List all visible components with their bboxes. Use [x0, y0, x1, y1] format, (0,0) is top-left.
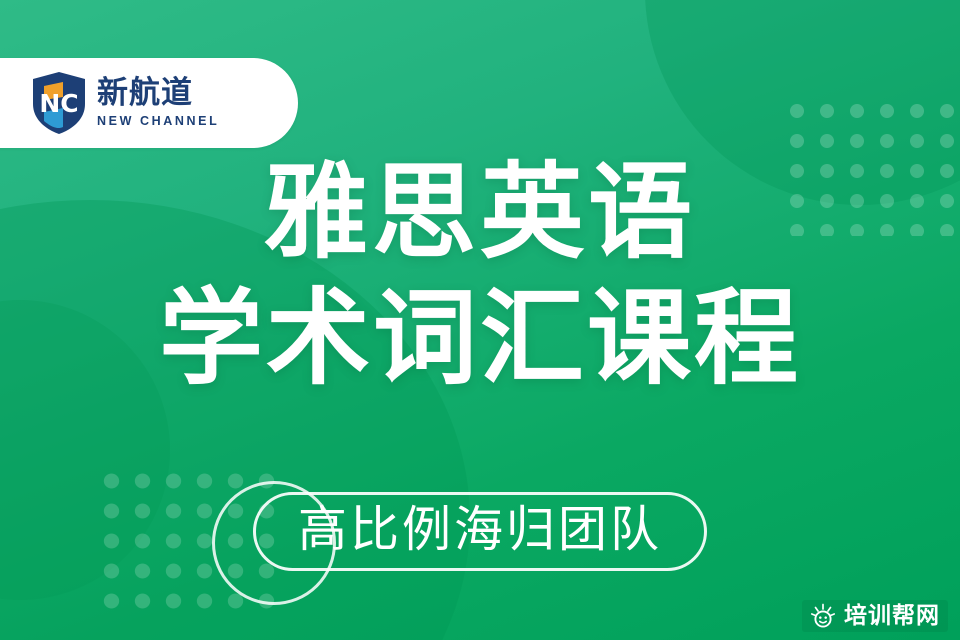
- brand-name-en: NEW CHANNEL: [97, 115, 219, 128]
- subtitle-pill: 高比例海归团队: [253, 492, 707, 571]
- brand-name-cn: 新航道: [97, 78, 219, 109]
- headline-block: 雅思英语 学术词汇课程: [0, 160, 960, 390]
- promo-poster: NC 新航道 NEW CHANNEL 雅思英语 学术词汇课程 高比例海归团队: [0, 0, 960, 640]
- brand-logo-text: 新航道 NEW CHANNEL: [97, 78, 219, 128]
- site-watermark: 培训帮网: [802, 600, 948, 632]
- sun-face-icon: [810, 603, 836, 629]
- subtitle-text: 高比例海归团队: [298, 504, 662, 555]
- nc-shield-icon: NC: [30, 71, 88, 135]
- brand-logo: NC 新航道 NEW CHANNEL: [30, 71, 219, 135]
- svg-text:NC: NC: [39, 89, 78, 118]
- watermark-label: 培训帮网: [844, 605, 940, 628]
- headline-line-2: 学术词汇课程: [0, 286, 960, 390]
- headline-line-1: 雅思英语: [0, 160, 960, 264]
- brand-logo-pill: NC 新航道 NEW CHANNEL: [0, 58, 298, 148]
